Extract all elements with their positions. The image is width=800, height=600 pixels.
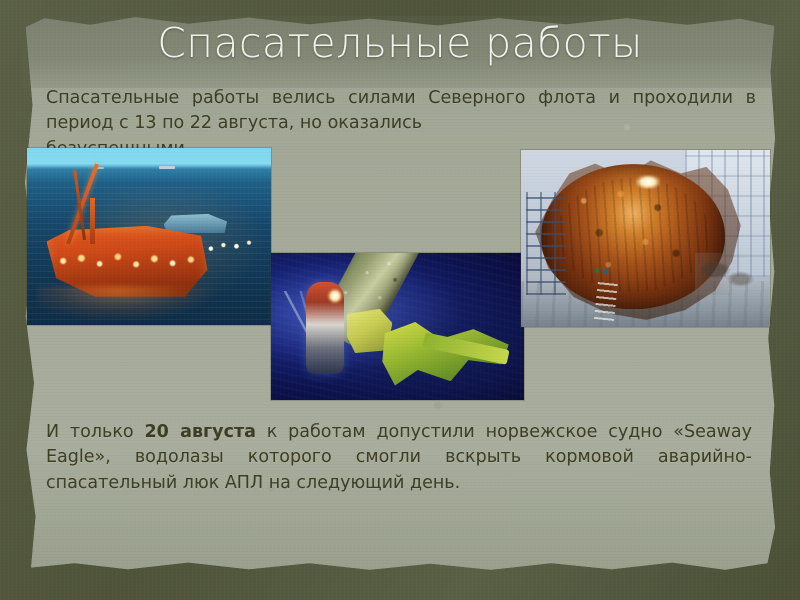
burnt-interior-detail — [556, 178, 710, 291]
platform-floodlights — [51, 247, 202, 275]
ladder-icon — [594, 280, 618, 321]
conclusion-lead: И только — [46, 422, 144, 442]
wreck-debris — [695, 253, 760, 295]
slide-title: Спасательные работы — [0, 20, 800, 67]
conclusion-paragraph: И только 20 августа к работам допустили … — [46, 420, 752, 496]
water-reflection-glow — [37, 286, 218, 321]
conclusion-bold-date: 20 августа — [144, 422, 255, 442]
diver-lamp-icon — [327, 288, 343, 304]
photo-wrecked-submarine-hull-in-drydock — [521, 150, 770, 327]
hull-light-highlight — [636, 175, 660, 189]
worker-figures — [591, 260, 616, 281]
scaffolding — [526, 192, 566, 295]
crane-tower — [90, 198, 95, 244]
presentation-slide: Спасательные работы Спасательные работы … — [0, 0, 800, 600]
photo-salvage-platform-at-dusk — [27, 148, 271, 325]
horizon-vessel-icon — [159, 166, 175, 169]
intro-line-1: Спасательные работы велись силами Северн… — [46, 88, 620, 108]
photo-underwater-diver-operation — [271, 253, 524, 400]
